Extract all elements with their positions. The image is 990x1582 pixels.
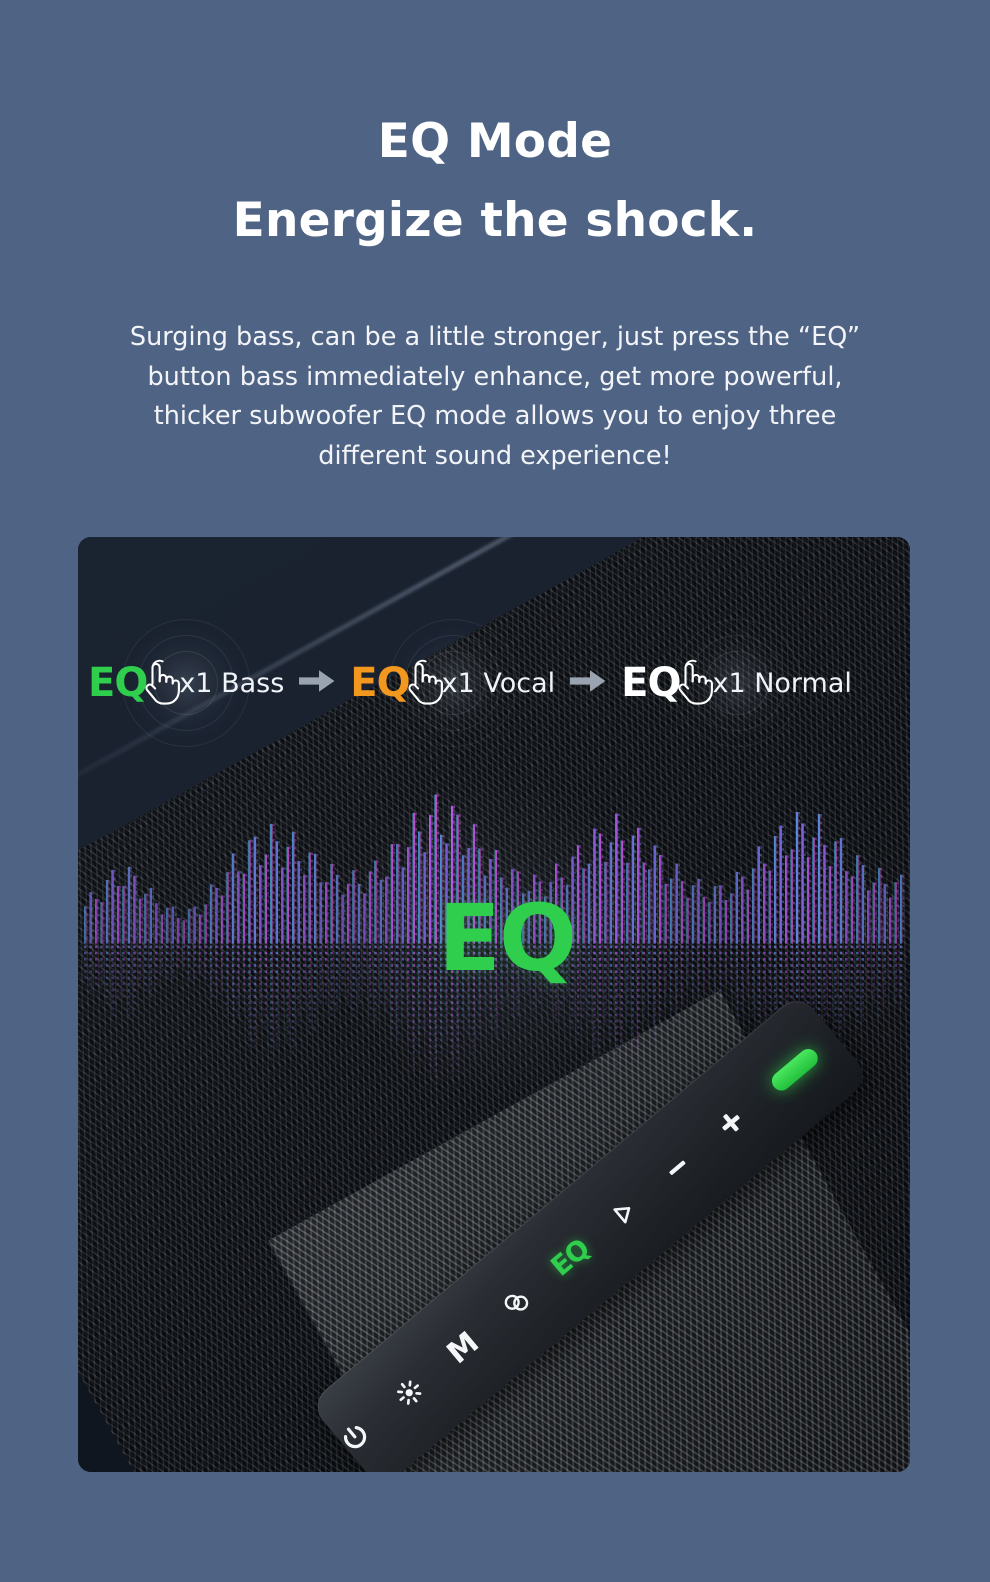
waveform-dot <box>651 899 653 901</box>
waveform-dot <box>741 995 743 998</box>
waveform-dot <box>612 932 614 934</box>
waveform-dot <box>634 836 636 838</box>
waveform-dot <box>451 1070 453 1073</box>
waveform-dot <box>435 958 437 961</box>
waveform-dot <box>320 989 322 992</box>
waveform-dot <box>120 886 122 888</box>
waveform-dot <box>601 901 603 903</box>
waveform-dot <box>697 964 699 967</box>
waveform-dot <box>837 849 839 851</box>
waveform-dot <box>697 952 699 955</box>
waveform-dot <box>413 946 415 949</box>
waveform-dot <box>640 918 642 920</box>
waveform-bar <box>336 875 338 944</box>
waveform-dot <box>377 876 379 878</box>
waveform-dot <box>771 893 773 895</box>
waveform-dot <box>248 970 250 973</box>
arrow-right-icon <box>298 668 336 694</box>
waveform-bar <box>166 908 168 944</box>
waveform-dot <box>125 916 127 918</box>
waveform-dot <box>330 952 332 955</box>
waveform-dot <box>199 946 201 949</box>
waveform-dot <box>298 970 300 973</box>
light-mode-button[interactable] <box>381 1365 437 1421</box>
waveform-dot <box>645 878 647 880</box>
waveform-dot <box>799 910 801 912</box>
tws-pair-button[interactable] <box>488 1275 544 1331</box>
waveform-dot <box>878 983 880 986</box>
waveform-dot <box>632 970 634 973</box>
waveform-dot <box>226 977 228 980</box>
waveform-dot <box>703 970 705 973</box>
waveform-dot <box>730 958 732 961</box>
waveform-dot <box>848 909 850 911</box>
waveform-dot <box>306 890 308 892</box>
waveform-dot <box>752 995 754 998</box>
waveform-dot <box>637 1045 639 1048</box>
waveform-dot <box>774 958 776 961</box>
waveform-dot <box>686 970 688 973</box>
waveform-dot <box>202 937 204 939</box>
waveform-dot <box>475 877 477 879</box>
waveform-dot <box>100 964 102 967</box>
waveform-dot <box>185 928 187 930</box>
waveform-dot <box>196 929 198 931</box>
waveform-dot <box>393 852 395 854</box>
waveform-dot <box>254 970 256 973</box>
waveform-dot <box>245 874 247 876</box>
waveform-dot <box>125 931 127 933</box>
waveform-dot <box>665 983 667 986</box>
waveform-dot <box>489 1001 491 1004</box>
waveform-dot <box>221 970 223 973</box>
waveform-dot <box>807 983 809 986</box>
waveform-dot <box>224 933 226 935</box>
waveform-dot <box>703 946 705 949</box>
waveform-dot <box>497 873 499 875</box>
waveform-dot <box>777 851 779 853</box>
waveform-dot <box>676 983 678 986</box>
waveform-dot <box>424 958 426 961</box>
waveform-dot <box>388 892 390 894</box>
waveform-dot <box>895 952 897 955</box>
waveform-dot <box>601 931 603 933</box>
waveform-dot <box>254 1020 256 1023</box>
waveform-dot <box>601 924 603 926</box>
waveform-dot <box>733 923 735 925</box>
waveform-dot <box>782 856 784 858</box>
waveform-dot <box>152 888 154 890</box>
waveform-dot <box>210 946 212 949</box>
waveform-dot <box>309 970 311 973</box>
waveform-dot <box>645 885 647 887</box>
waveform-dot <box>834 1020 836 1023</box>
waveform-dot <box>815 913 817 915</box>
waveform-dot <box>845 989 847 992</box>
waveform-dot <box>218 896 220 898</box>
waveform-dot <box>172 952 174 955</box>
waveform-dot <box>708 983 710 986</box>
waveform-dot <box>328 897 330 899</box>
waveform-dot <box>300 921 302 923</box>
waveform-dot <box>325 946 327 949</box>
waveform-dot <box>659 970 661 973</box>
waveform-dot <box>651 937 653 939</box>
waveform-dot <box>478 995 480 998</box>
waveform-dot <box>796 946 798 949</box>
waveform-dot <box>511 1014 513 1017</box>
waveform-dot <box>662 863 664 865</box>
waveform-dot <box>369 1008 371 1011</box>
waveform-dot <box>673 894 675 896</box>
waveform-bar <box>276 841 278 943</box>
waveform-dot <box>385 1001 387 1004</box>
waveform-dot <box>440 1032 442 1035</box>
waveform-dot <box>281 958 283 961</box>
waveform-dot <box>749 927 751 929</box>
waveform-dot <box>607 930 609 932</box>
waveform-dot <box>393 927 395 929</box>
waveform-dot <box>705 912 707 914</box>
waveform-dot <box>692 977 694 980</box>
waveform-dot <box>84 977 86 980</box>
waveform-dot <box>599 1020 601 1023</box>
play-button[interactable] <box>596 1185 652 1241</box>
waveform-dot <box>235 868 237 870</box>
waveform-dot <box>380 983 382 986</box>
waveform-dot <box>903 905 905 907</box>
waveform-dot <box>864 933 866 935</box>
waveform-dot <box>618 821 620 823</box>
waveform-dot <box>621 958 623 961</box>
eq-button[interactable]: EQ <box>542 1230 598 1286</box>
waveform-dot <box>267 930 269 932</box>
waveform-dot <box>256 927 258 929</box>
waveform-dot <box>174 929 176 931</box>
waveform-dot <box>352 964 354 967</box>
waveform-dot <box>295 847 297 849</box>
waveform-dot <box>259 989 261 992</box>
waveform-bar <box>676 864 678 944</box>
waveform-dot <box>615 1051 617 1054</box>
waveform-dot <box>889 958 891 961</box>
waveform-dot <box>415 835 417 837</box>
waveform-dot <box>615 983 617 986</box>
waveform-dot <box>229 932 231 934</box>
waveform-dot <box>615 1070 617 1073</box>
waveform-dot <box>862 1001 864 1004</box>
waveform-bar <box>856 855 858 943</box>
waveform-dot <box>821 829 823 831</box>
waveform-dot <box>612 917 614 919</box>
led-pill-indicator <box>768 1045 822 1094</box>
waveform-dot <box>878 989 880 992</box>
waveform-dot <box>676 989 678 992</box>
waveform-dot <box>831 866 833 868</box>
waveform-dot <box>322 882 324 884</box>
waveform-dot <box>374 983 376 986</box>
waveform-dot <box>295 839 297 841</box>
waveform-dot <box>437 817 439 819</box>
waveform-dot <box>804 906 806 908</box>
waveform-dot <box>621 1045 623 1048</box>
waveform-dot <box>856 995 858 998</box>
waveform-dot <box>172 964 174 967</box>
waveform-dot <box>867 989 869 992</box>
waveform-dot <box>738 887 740 889</box>
waveform-dot <box>262 880 264 882</box>
waveform-dot <box>298 1014 300 1017</box>
waveform-dot <box>292 1020 294 1023</box>
waveform-dot <box>183 952 185 955</box>
waveform-dot <box>314 1020 316 1023</box>
waveform-dot <box>771 938 773 940</box>
waveform-dot <box>752 946 754 949</box>
waveform-dot <box>607 915 609 917</box>
waveform-dot <box>582 952 584 955</box>
waveform-bar <box>380 880 382 944</box>
waveform-dot <box>166 977 168 980</box>
waveform-dot <box>725 977 727 980</box>
waveform-dot <box>517 1014 519 1017</box>
waveform-dot <box>111 964 113 967</box>
waveform-dot <box>612 872 614 874</box>
waveform-dot <box>796 977 798 980</box>
waveform-dot <box>393 882 395 884</box>
waveform-dot <box>837 871 839 873</box>
waveform-dot <box>232 995 234 998</box>
waveform-dot <box>780 952 782 955</box>
waveform-dot <box>678 894 680 896</box>
waveform-dot <box>432 928 434 930</box>
waveform-dot <box>429 1039 431 1042</box>
waveform-dot <box>248 1001 250 1004</box>
waveform-dot <box>645 938 647 940</box>
waveform-dot <box>777 836 779 838</box>
waveform-dot <box>352 983 354 986</box>
waveform-dot <box>651 869 653 871</box>
waveform-dot <box>202 922 204 924</box>
waveform-dot <box>711 902 713 904</box>
waveform-dot <box>777 926 779 928</box>
waveform-dot <box>897 882 899 884</box>
waveform-dot <box>106 958 108 961</box>
waveform-dot <box>580 875 582 877</box>
waveform-dot <box>673 916 675 918</box>
waveform-dot <box>350 891 352 893</box>
waveform-dot <box>634 851 636 853</box>
waveform-dot <box>139 958 141 961</box>
waveform-dot <box>500 1001 502 1004</box>
waveform-dot <box>782 931 784 933</box>
waveform-dot <box>207 927 209 929</box>
waveform-dot <box>243 1008 245 1011</box>
waveform-dot <box>194 946 196 949</box>
waveform-dot <box>363 989 365 992</box>
waveform-dot <box>322 890 324 892</box>
waveform-dot <box>454 813 456 815</box>
waveform-dot <box>402 946 404 949</box>
waveform-bar <box>298 861 300 944</box>
waveform-dot <box>801 989 803 992</box>
waveform-dot <box>317 936 319 938</box>
waveform-dot <box>251 863 253 865</box>
waveform-dot <box>248 1008 250 1011</box>
volume-up-button[interactable] <box>703 1095 759 1151</box>
waveform-dot <box>842 883 844 885</box>
waveform-dot <box>215 977 217 980</box>
waveform-dot <box>325 983 327 986</box>
waveform-dot <box>265 977 267 980</box>
waveform-dot <box>752 989 754 992</box>
waveform-dot <box>689 905 691 907</box>
waveform-dot <box>629 893 631 895</box>
waveform-dot <box>615 1045 617 1048</box>
waveform-dot <box>360 892 362 894</box>
waveform-dot <box>604 952 606 955</box>
waveform-dot <box>821 859 823 861</box>
waveform-dot <box>396 964 398 967</box>
waveform-dot <box>232 1026 234 1029</box>
waveform-dot <box>571 1026 573 1029</box>
waveform-dot <box>810 872 812 874</box>
waveform-dot <box>475 869 477 871</box>
waveform-dot <box>347 983 349 986</box>
waveform-dot <box>410 930 412 932</box>
waveform-bar <box>385 877 387 944</box>
waveform-dot <box>456 1063 458 1066</box>
waveform-dot <box>580 883 582 885</box>
waveform-dot <box>245 904 247 906</box>
waveform-dot <box>590 886 592 888</box>
waveform-dot <box>278 849 280 851</box>
waveform-dot <box>451 1032 453 1035</box>
waveform-dot <box>695 885 697 887</box>
mode-button[interactable]: M <box>435 1320 491 1376</box>
waveform-dot <box>823 995 825 998</box>
waveform-dot <box>273 831 275 833</box>
waveform-dot <box>133 983 135 986</box>
waveform-dot <box>700 909 702 911</box>
waveform-dot <box>588 952 590 955</box>
waveform-dot <box>826 928 828 930</box>
waveform-dot <box>462 1020 464 1023</box>
waveform-dot <box>689 928 691 930</box>
waveform-dot <box>676 977 678 980</box>
waveform-dot <box>235 928 237 930</box>
waveform-dot <box>429 1063 431 1066</box>
waveform-dot <box>454 851 456 853</box>
waveform-dot <box>404 920 406 922</box>
waveform-dot <box>807 952 809 955</box>
waveform-dot <box>341 989 343 992</box>
waveform-dot <box>421 929 423 931</box>
waveform-dot <box>840 952 842 955</box>
waveform-bar <box>270 824 272 944</box>
waveform-dot <box>254 983 256 986</box>
waveform-dot <box>736 958 738 961</box>
waveform-dot <box>725 983 727 986</box>
waveform-dot <box>410 870 412 872</box>
waveform-dot <box>410 885 412 887</box>
waveform-dot <box>719 946 721 949</box>
waveform-dot <box>298 952 300 955</box>
waveform-dot <box>141 921 143 923</box>
waveform-dot <box>632 964 634 967</box>
waveform-dot <box>601 939 603 941</box>
waveform-dot <box>339 890 341 892</box>
waveform-dot <box>700 939 702 941</box>
waveform-dot <box>884 977 886 980</box>
waveform-dot <box>245 889 247 891</box>
waveform-dot <box>758 964 760 967</box>
waveform-dot <box>106 970 108 973</box>
waveform-dot <box>320 964 322 967</box>
waveform-dot <box>495 1001 497 1004</box>
waveform-dot <box>689 935 691 937</box>
waveform-dot <box>424 970 426 973</box>
waveform-dot <box>807 989 809 992</box>
waveform-dot <box>618 859 620 861</box>
waveform-dot <box>760 891 762 893</box>
waveform-dot <box>267 922 269 924</box>
waveform-dot <box>640 850 642 852</box>
waveform-dot <box>777 904 779 906</box>
waveform-dot <box>410 900 412 902</box>
waveform-dot <box>812 989 814 992</box>
waveform-dot <box>429 958 431 961</box>
waveform-dot <box>821 912 823 914</box>
waveform-dot <box>358 952 360 955</box>
waveform-dot <box>352 989 354 992</box>
waveform-dot <box>226 995 228 998</box>
waveform-dot <box>884 964 886 967</box>
waveform-dot <box>867 958 869 961</box>
waveform-dot <box>651 877 653 879</box>
waveform-dot <box>705 934 707 936</box>
waveform-dot <box>407 977 409 980</box>
waveform-dot <box>265 1026 267 1029</box>
waveform-dot <box>325 964 327 967</box>
waveform-dot <box>615 946 617 949</box>
waveform-dot <box>815 868 817 870</box>
waveform-dot <box>829 952 831 955</box>
waveform-dot <box>684 904 686 906</box>
waveform-dot <box>432 830 434 832</box>
waveform-dot <box>429 952 431 955</box>
volume-down-button[interactable] <box>649 1140 705 1196</box>
waveform-dot <box>708 952 710 955</box>
waveform-dot <box>862 995 864 998</box>
waveform-dot <box>232 1032 234 1035</box>
waveform-dot <box>760 899 762 901</box>
waveform-dot <box>155 952 157 955</box>
waveform-dot <box>391 970 393 973</box>
waveform-dot <box>736 989 738 992</box>
waveform-dot <box>106 964 108 967</box>
waveform-dot <box>623 938 625 940</box>
waveform-dot <box>859 870 861 872</box>
waveform-dot <box>265 970 267 973</box>
waveform-dot <box>437 794 439 796</box>
waveform-dot <box>396 970 398 973</box>
waveform-dot <box>821 837 823 839</box>
waveform-dot <box>826 913 828 915</box>
waveform-dot <box>114 877 116 879</box>
waveform-dot <box>478 1032 480 1035</box>
waveform-dot <box>410 877 412 879</box>
waveform-dot <box>141 899 143 901</box>
